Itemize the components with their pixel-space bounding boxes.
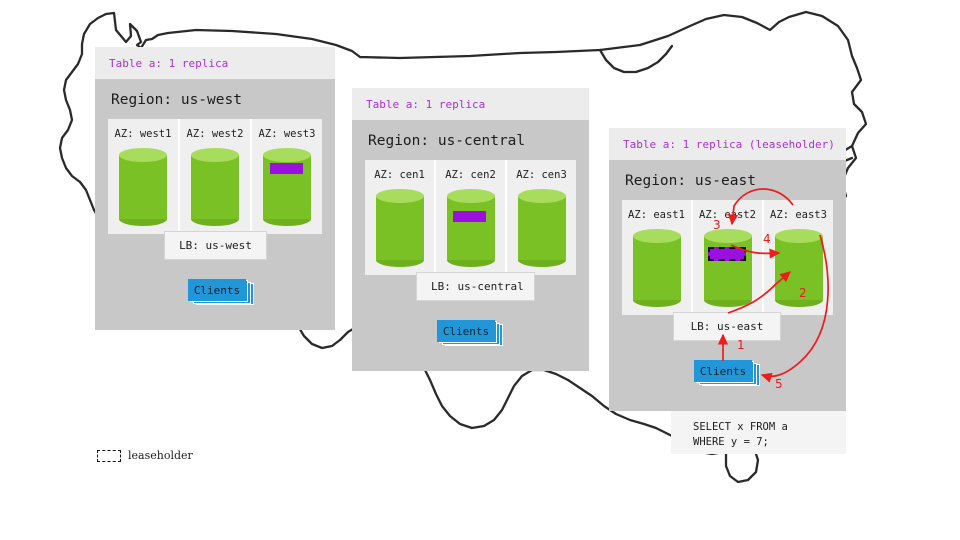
region-header-us-west: Table a: 1 replica bbox=[95, 47, 335, 79]
node-cylinder[interactable] bbox=[119, 148, 167, 226]
node-cylinder[interactable] bbox=[518, 189, 566, 267]
legend-leaseholder: leaseholder bbox=[97, 449, 193, 462]
load-balancer-us-east[interactable]: LB: us-east bbox=[673, 312, 781, 341]
az-label: AZ: cen2 bbox=[436, 169, 505, 181]
region-title-us-west: Region: us-west bbox=[95, 79, 335, 119]
load-balancer-us-central[interactable]: LB: us-central bbox=[416, 272, 535, 301]
az-east2[interactable]: AZ: east2 bbox=[691, 200, 762, 315]
load-balancer-us-west[interactable]: LB: us-west bbox=[164, 231, 267, 260]
az-label: AZ: east3 bbox=[764, 209, 833, 221]
az-cen2[interactable]: AZ: cen2 bbox=[434, 160, 505, 275]
region-panel-us-central: Table a: 1 replica Region: us-central AZ… bbox=[352, 88, 589, 371]
az-label: AZ: cen3 bbox=[507, 169, 576, 181]
az-label: AZ: west3 bbox=[252, 128, 322, 140]
az-cen3[interactable]: AZ: cen3 bbox=[505, 160, 576, 275]
az-label: AZ: west2 bbox=[180, 128, 250, 140]
legend-label: leaseholder bbox=[128, 449, 193, 462]
dashed-rect-icon bbox=[97, 450, 121, 462]
az-label: AZ: cen1 bbox=[365, 169, 434, 181]
node-cylinder[interactable] bbox=[376, 189, 424, 267]
replica-block[interactable] bbox=[453, 211, 486, 222]
az-west2[interactable]: AZ: west2 bbox=[178, 119, 250, 234]
leaseholder-replica-block[interactable] bbox=[708, 247, 746, 261]
region-header-us-central: Table a: 1 replica bbox=[352, 88, 589, 120]
arrow-label-1: 1 bbox=[737, 338, 745, 352]
clients-label: Clients bbox=[694, 360, 752, 382]
region-header-us-east: Table a: 1 replica (leaseholder) bbox=[609, 128, 846, 160]
node-cylinder[interactable] bbox=[191, 148, 239, 226]
region-title-us-east: Region: us-east bbox=[609, 160, 846, 200]
arrow-label-2: 2 bbox=[799, 286, 807, 300]
az-strip-us-central: AZ: cen1 AZ: cen2 AZ: cen3 bbox=[365, 160, 576, 275]
region-title-us-central: Region: us-central bbox=[352, 120, 589, 160]
arrow-label-5: 5 bbox=[775, 377, 783, 391]
diagram-canvas: Table a: 1 replica Region: us-west AZ: w… bbox=[0, 0, 960, 540]
region-panel-us-east: Table a: 1 replica (leaseholder) Region:… bbox=[609, 128, 846, 411]
az-cen1[interactable]: AZ: cen1 bbox=[365, 160, 434, 275]
node-cylinder[interactable] bbox=[447, 189, 495, 267]
node-cylinder[interactable] bbox=[704, 229, 752, 307]
az-east3[interactable]: AZ: east3 bbox=[762, 200, 833, 315]
az-label: AZ: east2 bbox=[693, 209, 762, 221]
az-east1[interactable]: AZ: east1 bbox=[622, 200, 691, 315]
sql-query-box: SELECT x FROM a WHERE y = 7; bbox=[671, 411, 846, 454]
az-strip-us-west: AZ: west1 AZ: west2 AZ: west3 bbox=[108, 119, 322, 234]
arrow-label-4: 4 bbox=[763, 232, 771, 246]
clients-us-west[interactable]: Clients bbox=[188, 279, 254, 305]
az-west1[interactable]: AZ: west1 bbox=[108, 119, 178, 234]
clients-label: Clients bbox=[188, 279, 246, 301]
replica-block[interactable] bbox=[270, 163, 303, 174]
arrow-label-3: 3 bbox=[713, 218, 721, 232]
az-west3[interactable]: AZ: west3 bbox=[250, 119, 322, 234]
az-label: AZ: east1 bbox=[622, 209, 691, 221]
clients-us-central[interactable]: Clients bbox=[437, 320, 503, 346]
region-panel-us-west: Table a: 1 replica Region: us-west AZ: w… bbox=[95, 47, 335, 330]
az-label: AZ: west1 bbox=[108, 128, 178, 140]
clients-us-east[interactable]: Clients bbox=[694, 360, 760, 386]
clients-label: Clients bbox=[437, 320, 495, 342]
node-cylinder[interactable] bbox=[633, 229, 681, 307]
node-cylinder[interactable] bbox=[263, 148, 311, 226]
